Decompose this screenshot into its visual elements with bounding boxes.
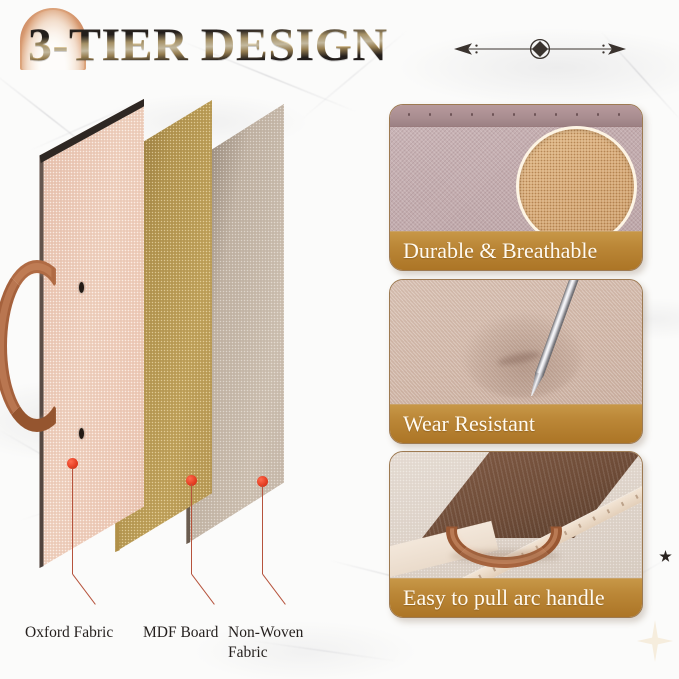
layer-label-mdf: MDF Board: [143, 623, 218, 642]
card-caption-bar-handle: Easy to pull arc handle: [390, 578, 642, 617]
three-layer-exploded-diagram: Oxford Fabric MDF Board Non-Woven Fabric: [0, 92, 390, 612]
leader-line-oxford-2: [72, 574, 96, 605]
leader-line-mdf-2: [191, 574, 215, 605]
layer-label-nonwoven-line2: Fabric: [228, 643, 268, 662]
leader-line-mdf: [191, 484, 192, 574]
arc-handle: [0, 260, 80, 432]
card-caption-text-handle: Easy to pull arc handle: [390, 585, 605, 611]
handle-hole-bottom: [79, 428, 84, 439]
handle-hole-top: [79, 282, 84, 293]
feature-card-wear-resistant[interactable]: Wear Resistant: [389, 279, 643, 444]
leader-line-nonwoven: [262, 485, 263, 574]
feature-card-arc-handle[interactable]: Easy to pull arc handle: [389, 451, 643, 618]
infographic-canvas: 3-TIER DESIGN 3-TIER DESIGN: [0, 0, 679, 679]
box-rim-stitching: [390, 105, 642, 127]
card-caption-bar-durable: Durable & Breathable: [390, 231, 642, 270]
leader-line-oxford: [72, 467, 73, 574]
leader-line-nonwoven-2: [262, 574, 286, 605]
card-caption-text-durable: Durable & Breathable: [390, 238, 597, 264]
card-caption-bar-wear: Wear Resistant: [390, 404, 642, 443]
page-title: 3-TIER DESIGN: [28, 22, 388, 69]
card-caption-text-wear: Wear Resistant: [390, 411, 535, 437]
decorative-divider: [452, 38, 628, 60]
magnified-fiber-weave-circle: [516, 126, 637, 247]
layer-label-nonwoven-line1: Non-Woven: [228, 623, 303, 642]
feature-card-durable-breathable[interactable]: Durable & Breathable: [389, 104, 643, 271]
layer-label-oxford: Oxford Fabric: [25, 623, 113, 642]
arc-handle-closeup: [446, 494, 562, 568]
